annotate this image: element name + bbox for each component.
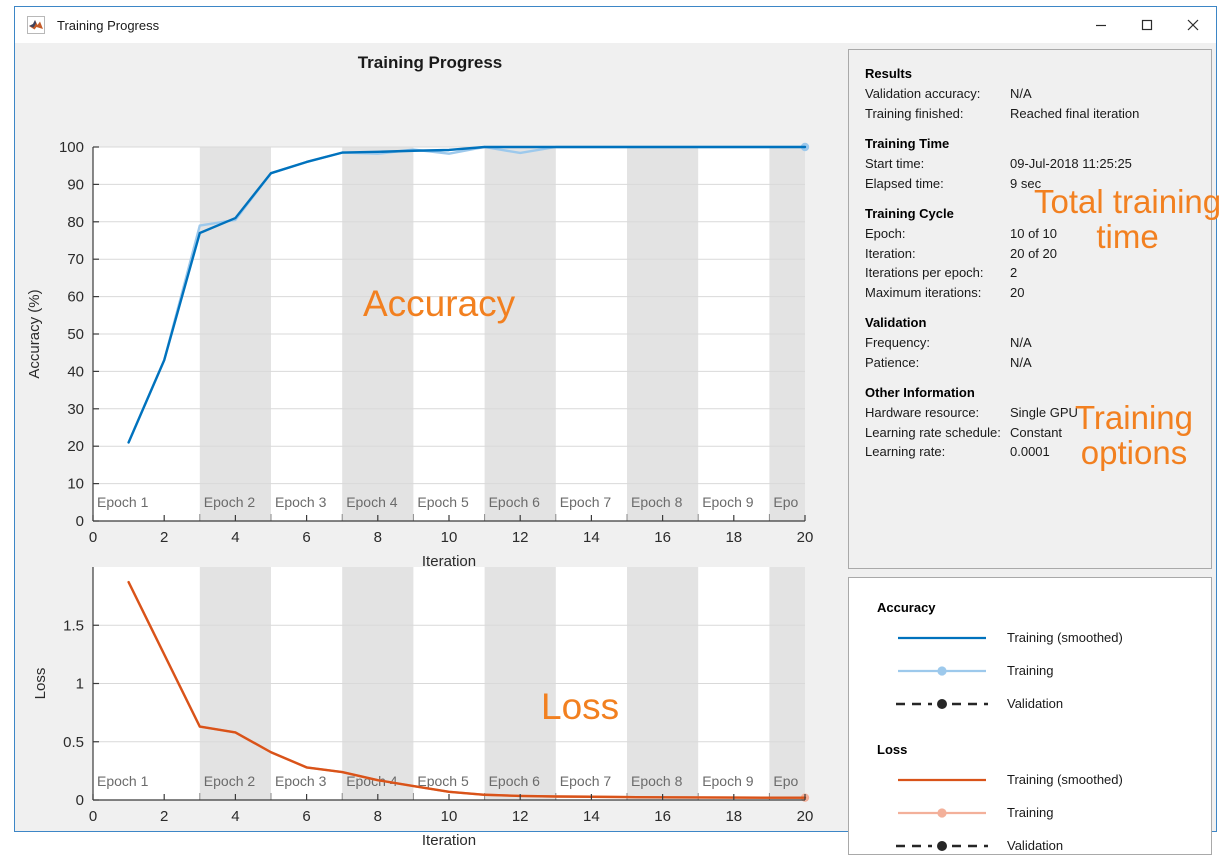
window-titlebar: Training Progress [15, 7, 1216, 43]
legend-entry-label: Training [1007, 805, 1053, 820]
info-row: Patience:N/A [865, 353, 1211, 373]
info-row-value: Reached final iteration [1010, 104, 1211, 124]
minimize-button[interactable] [1078, 7, 1124, 43]
svg-text:4: 4 [231, 808, 239, 825]
svg-text:Epo: Epo [773, 773, 798, 789]
annotation-training-options: Training options [1075, 401, 1193, 470]
svg-text:8: 8 [374, 529, 382, 546]
svg-text:10: 10 [441, 808, 458, 825]
svg-text:Epoch 6: Epoch 6 [489, 773, 541, 789]
svg-text:2: 2 [160, 529, 168, 546]
svg-text:20: 20 [797, 529, 814, 546]
svg-text:Epoch 1: Epoch 1 [97, 773, 149, 789]
svg-text:1: 1 [76, 676, 84, 693]
info-row-key: Validation accuracy: [865, 84, 1010, 104]
loss-plot: Epoch 1Epoch 2Epoch 3Epoch 4Epoch 5Epoch… [15, 555, 845, 855]
window-title: Training Progress [57, 18, 159, 33]
svg-text:4: 4 [231, 529, 239, 546]
info-row: Maximum iterations:20 [865, 283, 1211, 303]
legend-entry-label: Training [1007, 663, 1053, 678]
annotation-total-training-time-line2: time [1034, 220, 1221, 255]
info-row-value: N/A [1010, 353, 1211, 373]
info-section-heading: Validation [865, 315, 1211, 330]
info-row-key: Iteration: [865, 244, 1010, 264]
svg-text:Epoch 9: Epoch 9 [702, 494, 754, 510]
training-progress-window: Training Progress Training Progress Epoc… [14, 6, 1217, 832]
legend-entry: Training [877, 654, 1211, 687]
svg-text:70: 70 [67, 251, 84, 268]
legend-swatch-icon [877, 696, 1007, 712]
info-row-key: Frequency: [865, 333, 1010, 353]
svg-text:Epoch 8: Epoch 8 [631, 773, 683, 789]
annotation-total-training-time: Total training time [1034, 185, 1221, 254]
annotation-training-options-line1: Training [1075, 399, 1193, 436]
legend-entry-label: Training (smoothed) [1007, 630, 1123, 645]
svg-text:Epoch 5: Epoch 5 [417, 494, 469, 510]
info-row-key: Learning rate schedule: [865, 423, 1010, 443]
annotation-accuracy: Accuracy [363, 285, 515, 324]
legend-swatch-icon [877, 772, 1007, 788]
svg-text:20: 20 [67, 438, 84, 455]
info-row-value: N/A [1010, 333, 1211, 353]
svg-text:18: 18 [725, 808, 742, 825]
training-info-panel: ResultsValidation accuracy:N/ATraining f… [848, 49, 1212, 569]
svg-text:Epoch 9: Epoch 9 [702, 773, 754, 789]
annotation-total-training-time-line1: Total training [1034, 183, 1221, 220]
svg-text:6: 6 [302, 529, 310, 546]
svg-text:Loss: Loss [32, 668, 49, 700]
svg-text:80: 80 [67, 214, 84, 231]
info-row-key: Elapsed time: [865, 174, 1010, 194]
svg-text:40: 40 [67, 363, 84, 380]
svg-text:2: 2 [160, 808, 168, 825]
svg-text:12: 12 [512, 529, 529, 546]
svg-text:100: 100 [59, 139, 84, 156]
svg-text:16: 16 [654, 529, 671, 546]
svg-text:0.5: 0.5 [63, 734, 84, 751]
svg-text:0: 0 [89, 529, 97, 546]
svg-text:Accuracy (%): Accuracy (%) [26, 289, 43, 378]
info-row-key: Epoch: [865, 224, 1010, 244]
svg-text:0: 0 [89, 808, 97, 825]
legend-swatch-icon [877, 838, 1007, 854]
svg-text:12: 12 [512, 808, 529, 825]
info-row: Validation accuracy:N/A [865, 84, 1211, 104]
svg-text:18: 18 [725, 529, 742, 546]
legend-swatch-icon [877, 663, 1007, 679]
svg-text:Epoch 2: Epoch 2 [204, 494, 256, 510]
legend-group-title: Accuracy [877, 600, 1211, 615]
legend-entry: Training [877, 796, 1211, 829]
info-row-key: Maximum iterations: [865, 283, 1010, 303]
svg-text:Epoch 6: Epoch 6 [489, 494, 541, 510]
info-row-key: Patience: [865, 353, 1010, 373]
svg-text:10: 10 [67, 476, 84, 493]
svg-text:20: 20 [797, 808, 814, 825]
legend-entry: Training (smoothed) [877, 763, 1211, 796]
svg-text:Epoch 1: Epoch 1 [97, 494, 149, 510]
svg-text:16: 16 [654, 808, 671, 825]
info-row: Training finished:Reached final iteratio… [865, 104, 1211, 124]
legend-entry-label: Training (smoothed) [1007, 772, 1123, 787]
close-button[interactable] [1170, 7, 1216, 43]
svg-text:Epoch 3: Epoch 3 [275, 773, 327, 789]
svg-text:Epo: Epo [773, 494, 798, 510]
info-row-value: 20 [1010, 283, 1211, 303]
svg-text:Epoch 4: Epoch 4 [346, 494, 398, 510]
svg-text:14: 14 [583, 529, 600, 546]
legend-panel: AccuracyTraining (smoothed)TrainingValid… [848, 577, 1212, 855]
svg-text:0: 0 [76, 792, 84, 809]
svg-text:Epoch 5: Epoch 5 [417, 773, 469, 789]
svg-text:Epoch 3: Epoch 3 [275, 494, 327, 510]
matlab-icon [27, 16, 45, 34]
legend-entry: Validation [877, 687, 1211, 720]
window-content: Training Progress Epoch 1Epoch 2Epoch 3E… [15, 43, 1216, 831]
svg-text:Epoch 2: Epoch 2 [204, 773, 256, 789]
svg-text:60: 60 [67, 289, 84, 306]
info-section-heading: Results [865, 66, 1211, 81]
info-row: Start time:09-Jul-2018 11:25:25 [865, 154, 1211, 174]
legend-entry-label: Validation [1007, 838, 1063, 853]
window-controls [1078, 7, 1216, 43]
info-row-value: N/A [1010, 84, 1211, 104]
annotation-loss: Loss [541, 688, 619, 727]
legend-swatch-icon [877, 630, 1007, 646]
svg-text:90: 90 [67, 176, 84, 193]
svg-text:6: 6 [302, 808, 310, 825]
legend-entry: Validation [877, 829, 1211, 862]
svg-text:Epoch 7: Epoch 7 [560, 773, 612, 789]
svg-text:50: 50 [67, 326, 84, 343]
legend-swatch-icon [877, 805, 1007, 821]
svg-text:8: 8 [374, 808, 382, 825]
svg-text:0: 0 [76, 513, 84, 530]
svg-text:30: 30 [67, 401, 84, 418]
svg-text:Epoch 8: Epoch 8 [631, 494, 683, 510]
info-section-heading: Other Information [865, 385, 1211, 400]
info-row-key: Learning rate: [865, 442, 1010, 462]
info-row: Frequency:N/A [865, 333, 1211, 353]
svg-text:14: 14 [583, 808, 600, 825]
maximize-button[interactable] [1124, 7, 1170, 43]
info-row-key: Hardware resource: [865, 403, 1010, 423]
info-section-heading: Training Time [865, 136, 1211, 151]
svg-text:Iteration: Iteration [422, 832, 476, 849]
page-title: Training Progress [15, 53, 845, 73]
svg-text:10: 10 [441, 529, 458, 546]
info-row-key: Start time: [865, 154, 1010, 174]
legend-group-title: Loss [877, 742, 1211, 757]
info-row-key: Training finished: [865, 104, 1010, 124]
info-row-value: 09-Jul-2018 11:25:25 [1010, 154, 1211, 174]
svg-text:Epoch 7: Epoch 7 [560, 494, 612, 510]
info-row: Iterations per epoch:2 [865, 263, 1211, 283]
legend-entry-label: Validation [1007, 696, 1063, 711]
legend-entry: Training (smoothed) [877, 621, 1211, 654]
svg-text:1.5: 1.5 [63, 617, 84, 634]
info-row-key: Iterations per epoch: [865, 263, 1010, 283]
info-row-value: 2 [1010, 263, 1211, 283]
annotation-training-options-line2: options [1075, 436, 1193, 471]
